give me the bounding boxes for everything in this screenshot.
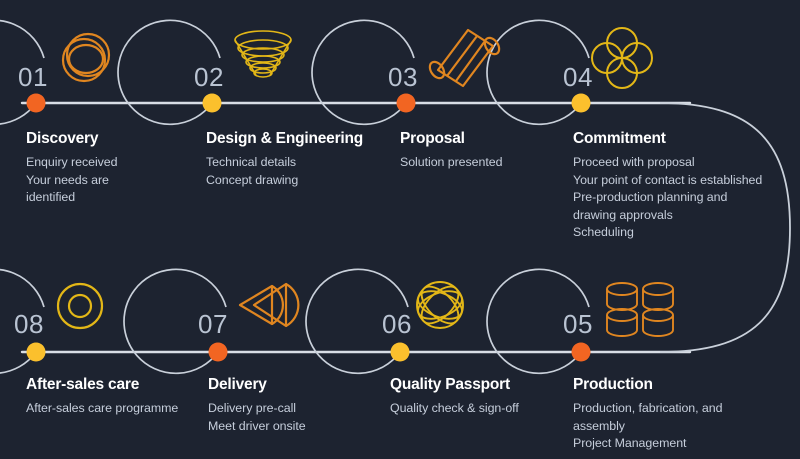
step-line: Technical details bbox=[206, 154, 391, 172]
step-line: Quality check & sign-off bbox=[390, 400, 565, 418]
step-line: Proceed with proposal bbox=[573, 154, 788, 172]
timeline-node-dot-08[interactable] bbox=[27, 343, 46, 362]
step-number-06: 06 bbox=[382, 311, 412, 337]
step-lines-06: Quality check & sign-off bbox=[390, 400, 565, 418]
step-block-04[interactable]: Commitment Proceed with proposal Your po… bbox=[573, 130, 788, 242]
timeline-node-dot-01[interactable] bbox=[27, 94, 46, 113]
step-line: Concept drawing bbox=[206, 172, 391, 190]
step-block-05[interactable]: Production Production, fabrication, and … bbox=[573, 376, 773, 453]
step-lines-07: Delivery pre-call Meet driver onsite bbox=[208, 400, 383, 435]
step-title-03: Proposal bbox=[400, 130, 570, 148]
funnel-vortex-icon bbox=[235, 31, 291, 77]
step-lines-02: Technical details Concept drawing bbox=[206, 154, 391, 189]
four-cylinders-icon bbox=[607, 283, 673, 336]
chevron-fan-icon bbox=[240, 284, 298, 326]
step-line: After-sales care programme bbox=[26, 400, 206, 418]
step-line: Your point of contact is established bbox=[573, 172, 788, 190]
step-line: Pre-production planning and bbox=[573, 189, 788, 207]
step-lines-03: Solution presented bbox=[400, 154, 570, 172]
concentric-rings-icon bbox=[63, 34, 109, 81]
step-line: identified bbox=[26, 189, 191, 207]
step-line: Project Management bbox=[573, 435, 773, 453]
timeline-diagram: 01 02 03 04 08 07 06 05 Discovery Enquir… bbox=[0, 0, 800, 459]
step-block-08[interactable]: After-sales care After-sales care progra… bbox=[26, 376, 206, 418]
timeline-node-dot-03[interactable] bbox=[397, 94, 416, 113]
step-line: Solution presented bbox=[400, 154, 570, 172]
timeline-node-dot-04[interactable] bbox=[572, 94, 591, 113]
step-lines-08: After-sales care programme bbox=[26, 400, 206, 418]
step-line: Scheduling bbox=[573, 224, 788, 242]
step-line: Meet driver onsite bbox=[208, 418, 383, 436]
step-block-01[interactable]: Discovery Enquiry received Your needs ar… bbox=[26, 130, 191, 207]
circle-lattice-icon bbox=[414, 280, 465, 329]
step-line: Enquiry received bbox=[26, 154, 191, 172]
step-title-02: Design & Engineering bbox=[206, 130, 391, 148]
step-number-01: 01 bbox=[18, 64, 48, 90]
step-number-04: 04 bbox=[563, 64, 593, 90]
step-lines-01: Enquiry received Your needs are identifi… bbox=[26, 154, 191, 207]
timeline-node-dot-05[interactable] bbox=[572, 343, 591, 362]
step-line: drawing approvals bbox=[573, 207, 788, 225]
step-line: assembly bbox=[573, 418, 773, 436]
step-line: Production, fabrication, and bbox=[573, 400, 773, 418]
step-line: Delivery pre-call bbox=[208, 400, 383, 418]
step-lines-05: Production, fabrication, and assembly Pr… bbox=[573, 400, 773, 453]
step-title-05: Production bbox=[573, 376, 773, 394]
timeline-node-dot-07[interactable] bbox=[209, 343, 228, 362]
rolled-document-icon bbox=[427, 30, 502, 86]
step-block-06[interactable]: Quality Passport Quality check & sign-of… bbox=[390, 376, 565, 418]
timeline-node-dot-02[interactable] bbox=[203, 94, 222, 113]
four-circle-flower-icon bbox=[592, 28, 652, 88]
step-block-07[interactable]: Delivery Delivery pre-call Meet driver o… bbox=[208, 376, 383, 435]
step-number-02: 02 bbox=[194, 64, 224, 90]
step-title-06: Quality Passport bbox=[390, 376, 565, 394]
step-title-07: Delivery bbox=[208, 376, 383, 394]
step-block-03[interactable]: Proposal Solution presented bbox=[400, 130, 570, 172]
step-number-03: 03 bbox=[388, 64, 418, 90]
step-number-05: 05 bbox=[563, 311, 593, 337]
donut-rings-icon bbox=[58, 284, 102, 328]
step-lines-04: Proceed with proposal Your point of cont… bbox=[573, 154, 788, 242]
step-block-02[interactable]: Design & Engineering Technical details C… bbox=[206, 130, 391, 189]
timeline-node-dot-06[interactable] bbox=[391, 343, 410, 362]
step-number-07: 07 bbox=[198, 311, 228, 337]
step-title-04: Commitment bbox=[573, 130, 788, 148]
step-line: Your needs are bbox=[26, 172, 191, 190]
step-title-08: After-sales care bbox=[26, 376, 206, 394]
step-number-08: 08 bbox=[14, 311, 44, 337]
step-title-01: Discovery bbox=[26, 130, 191, 148]
